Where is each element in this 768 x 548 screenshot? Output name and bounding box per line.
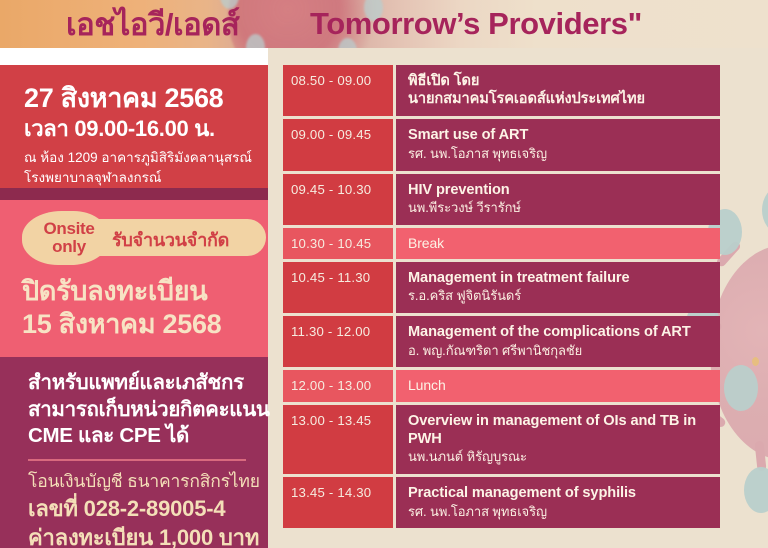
schedule-row: 10.30 - 10.45Break (283, 228, 720, 260)
schedule-row: 10.45 - 11.30Management in treatment fai… (283, 262, 720, 313)
schedule-topic-title: พิธีเปิด โดย (408, 72, 710, 90)
registration-fee: ค่าลงทะเบียน 1,000 บาท (28, 523, 260, 548)
schedule-topic-cell: HIV preventionนพ.พีระวงษ์ วีรารักษ์ (396, 174, 720, 225)
schedule-topic-cell: Management in treatment failureร.อ.คริส … (396, 262, 720, 313)
onsite-label-line2: only (52, 237, 86, 256)
credits-payment-block: สำหรับแพทย์และเภสัชกร สามารถเก็บหน่วยกิต… (0, 357, 268, 548)
schedule-topic-title: Smart use of ART (408, 126, 710, 144)
schedule-row: 09.45 - 10.30HIV preventionนพ.พีระวงษ์ ว… (283, 174, 720, 225)
registration-closing-line2: 15 สิงหาคม 2568 (22, 308, 268, 341)
schedule-time: 13.45 - 14.30 (283, 477, 393, 528)
schedule-topic-title: Overview in management of OIs and TB in … (408, 412, 710, 448)
onsite-badge: Onsite only รับจำนวนจำกัด (22, 217, 266, 259)
header-white-gap (0, 48, 268, 65)
limited-seats-label: รับจำนวนจำกัด (112, 225, 229, 254)
schedule-time: 09.00 - 09.45 (283, 119, 393, 170)
schedule-speaker: ร.อ.คริส ฟูจิตนิรันดร์ (408, 288, 710, 305)
schedule-topic-title: Management in treatment failure (408, 269, 710, 287)
schedule-topic-cell: Practical management of syphilisรศ. นพ.โ… (396, 477, 720, 528)
schedule-topic-title: Management of the complications of ART (408, 323, 710, 341)
event-venue-line1: ณ ห้อง 1209 อาคารภูมิสิริมังคลานุสรณ์ (24, 148, 260, 168)
schedule-speaker: รศ. นพ.โอภาส พุทธเจริญ (408, 504, 710, 521)
event-date: 27 สิงหาคม 2568 (24, 83, 260, 115)
schedule-row: 13.00 - 13.45Overview in management of O… (283, 405, 720, 474)
credits-line3: CME และ CPE ได้ (28, 423, 260, 450)
schedule-speaker: นายกสมาคมโรคเอดส์แห่งประเทศไทย (408, 90, 710, 108)
schedule-topic-cell: Overview in management of OIs and TB in … (396, 405, 720, 474)
schedule-topic-cell: พิธีเปิด โดยนายกสมาคมโรคเอดส์แห่งประเทศไ… (396, 65, 720, 116)
credits-line2: สามารถเก็บหน่วยกิตคะแนน (28, 397, 260, 424)
event-time: เวลา 09.00-16.00 น. (24, 115, 260, 144)
schedule-topic-title: HIV prevention (408, 181, 710, 199)
schedule-topic-cell: Lunch (396, 370, 720, 402)
bank-transfer-label: โอนเงินบัญชี ธนาคารกสิกรไทย (28, 470, 260, 494)
registration-closing-line1: ปิดรับลงทะเบียน (22, 275, 268, 308)
schedule-row: 13.45 - 14.30Practical management of syp… (283, 477, 720, 528)
schedule-time: 09.45 - 10.30 (283, 174, 393, 225)
event-date-block: 27 สิงหาคม 2568 เวลา 09.00-16.00 น. ณ ห้… (0, 65, 268, 188)
credits-divider (28, 459, 246, 461)
schedule-time: 12.00 - 13.00 (283, 370, 393, 402)
schedule-topic-title: Lunch (408, 377, 710, 395)
schedule-speaker: รศ. นพ.โอภาส พุทธเจริญ (408, 146, 710, 163)
schedule-topic-cell: Management of the complications of ARTอ.… (396, 316, 720, 367)
schedule-time: 10.45 - 11.30 (283, 262, 393, 313)
schedule-time: 08.50 - 09.00 (283, 65, 393, 116)
schedule-topic-title: Practical management of syphilis (408, 484, 710, 502)
schedule-time: 10.30 - 10.45 (283, 228, 393, 260)
poster-root: เอชไอวี/เอดส์ Tomorrow’s Providers" 27 ส… (0, 0, 768, 548)
schedule-topic-cell: Break (396, 228, 720, 260)
bank-account-number: เลขที่ 028-2-89005-4 (28, 494, 260, 523)
header-title-row: เอชไอวี/เอดส์ Tomorrow’s Providers" (0, 0, 768, 48)
header-title-english: Tomorrow’s Providers" (310, 6, 642, 42)
registration-closing: ปิดรับลงทะเบียน 15 สิงหาคม 2568 (22, 275, 268, 341)
onsite-label: Onsite only (31, 220, 107, 255)
schedule-topic-title: Break (408, 235, 710, 253)
schedule-row: 12.00 - 13.00Lunch (283, 370, 720, 402)
schedule-topic-cell: Smart use of ARTรศ. นพ.โอภาส พุทธเจริญ (396, 119, 720, 170)
schedule-speaker: นพ.นภนต์ หิรัญบูรณะ (408, 449, 710, 466)
schedule-row: 09.00 - 09.45Smart use of ARTรศ. นพ.โอภา… (283, 119, 720, 170)
header-title-thai: เอชไอวี/เอดส์ (66, 0, 239, 48)
divider-strip (0, 188, 268, 200)
schedule-table: 08.50 - 09.00พิธีเปิด โดยนายกสมาคมโรคเอด… (283, 65, 720, 531)
left-info-column: 27 สิงหาคม 2568 เวลา 09.00-16.00 น. ณ ห้… (0, 65, 268, 548)
schedule-speaker: อ. พญ.กัณฑริดา ศรีพานิชกุลชัย (408, 343, 710, 360)
schedule-time: 13.00 - 13.45 (283, 405, 393, 474)
schedule-speaker: นพ.พีระวงษ์ วีรารักษ์ (408, 200, 710, 217)
schedule-time: 11.30 - 12.00 (283, 316, 393, 367)
schedule-row: 11.30 - 12.00Management of the complicat… (283, 316, 720, 367)
registration-block: Onsite only รับจำนวนจำกัด ปิดรับลงทะเบีย… (0, 200, 268, 357)
schedule-row: 08.50 - 09.00พิธีเปิด โดยนายกสมาคมโรคเอด… (283, 65, 720, 116)
credits-line1: สำหรับแพทย์และเภสัชกร (28, 370, 260, 397)
header-band: เอชไอวี/เอดส์ Tomorrow’s Providers" (0, 0, 768, 48)
event-venue-line2: โรงพยาบาลจุฬาลงกรณ์ (24, 168, 260, 188)
onsite-label-line1: Onsite (43, 219, 94, 238)
